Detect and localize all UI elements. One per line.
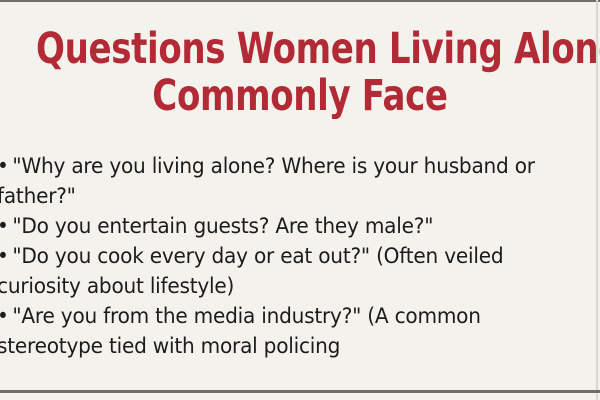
top-divider-rule: [0, 0, 600, 2]
list-item: •"Do you cook every day or eat out?" (Of…: [0, 242, 558, 272]
list-item-text: "Are you from the media industry?" (A co…: [12, 304, 480, 329]
bullet-icon: •: [0, 212, 12, 242]
list-item-text: curiosity about lifestyle): [0, 274, 234, 299]
list-item-text: stereotype tied with moral policing: [0, 334, 340, 359]
list-item: •"Are you from the media industry?" (A c…: [0, 302, 558, 332]
list-item-text: "Do you cook every day or eat out?" (Oft…: [12, 244, 503, 269]
list-item-continuation: stereotype tied with moral policing: [0, 332, 558, 362]
list-item-text: "Why are you living alone? Where is your…: [12, 154, 534, 179]
slide-canvas: Questions Women Living Alone Commonly Fa…: [0, 0, 600, 400]
list-item-text: father?": [0, 184, 76, 209]
bullet-icon: •: [0, 302, 12, 332]
bullet-icon: •: [0, 242, 12, 272]
list-item: •"Why are you living alone? Where is you…: [0, 152, 558, 182]
bullet-list: •"Why are you living alone? Where is you…: [0, 152, 597, 362]
title-line-2: Commonly Face: [36, 73, 564, 120]
bottom-divider-rule: [0, 390, 600, 393]
title-line-1: Questions Women Living Alone: [36, 26, 564, 73]
list-item: •"Do you entertain guests? Are they male…: [0, 212, 558, 242]
slide-title: Questions Women Living Alone Commonly Fa…: [0, 26, 600, 120]
bullet-icon: •: [0, 152, 12, 182]
list-item-text: "Do you entertain guests? Are they male?…: [12, 214, 433, 239]
list-item-continuation: curiosity about lifestyle): [0, 272, 558, 302]
list-item-continuation: father?": [0, 182, 558, 212]
